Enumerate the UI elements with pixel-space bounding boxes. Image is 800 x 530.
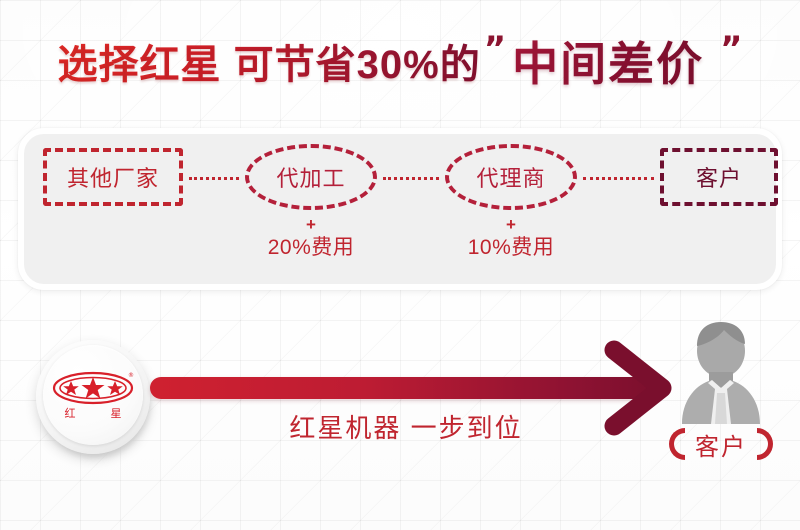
flow-node-label: 其他厂家 — [67, 161, 159, 193]
customer-label-text: 客户 — [695, 427, 747, 462]
flow-node-label: 代理商 — [476, 161, 545, 193]
badge-ring: ® 红 星 — [36, 340, 150, 454]
logo-char-left: 红 — [65, 407, 76, 420]
headline: 选择红星 可节省30%的 ” 中间差价 ” — [0, 26, 800, 96]
flow-node-oem-processing: 代加工 — [245, 144, 377, 210]
hongxing-star-logo-icon: ® 红 星 — [50, 369, 136, 421]
headline-main-text: 选择红星 可节省30%的 — [58, 32, 481, 90]
arrow-caption: 红星机器 一步到位 — [150, 408, 662, 445]
poster-canvas: 选择红星 可节省30%的 ” 中间差价 ” 其他厂家 代加工 代理商 客户 + — [0, 0, 800, 530]
customer-label-group: 客户 — [650, 424, 792, 464]
flow-node-agent: 代理商 — [445, 144, 577, 210]
flow-diagram: 其他厂家 代加工 代理商 客户 + 20%费用 + 10%费用 — [24, 134, 776, 284]
badge-face: ® 红 星 — [43, 345, 143, 445]
flow-node-other-factory: 其他厂家 — [43, 148, 183, 206]
middleman-flow-panel: 其他厂家 代加工 代理商 客户 + 20%费用 + 10%费用 — [18, 128, 782, 290]
registered-mark: ® — [128, 372, 134, 379]
quote-open-mark: ” — [484, 32, 506, 66]
fee-amount: 10%费用 — [445, 237, 577, 259]
quote-close-mark: ” — [720, 32, 742, 66]
flow-node-customer: 客户 — [660, 148, 778, 206]
fee-amount: 20%费用 — [245, 237, 377, 259]
connector-2 — [383, 177, 439, 180]
bracket-right-icon — [757, 428, 773, 460]
logo-char-right: 星 — [111, 407, 122, 420]
plus-sign: + — [445, 216, 577, 234]
brand-logo-badge: ® 红 星 — [36, 340, 154, 458]
connector-3 — [583, 177, 654, 180]
fee-markup-agent: + 10%费用 — [445, 216, 577, 259]
direct-arrow-shaft — [150, 377, 662, 399]
headline-emphasis-text: 中间差价 — [512, 28, 704, 94]
plus-sign: + — [245, 216, 377, 234]
connector-1 — [189, 177, 239, 180]
bracket-left-icon — [669, 428, 685, 460]
customer-person-icon — [662, 318, 780, 424]
fee-markup-oem: + 20%费用 — [245, 216, 377, 259]
flow-node-label: 客户 — [696, 161, 742, 193]
flow-node-label: 代加工 — [276, 161, 345, 193]
